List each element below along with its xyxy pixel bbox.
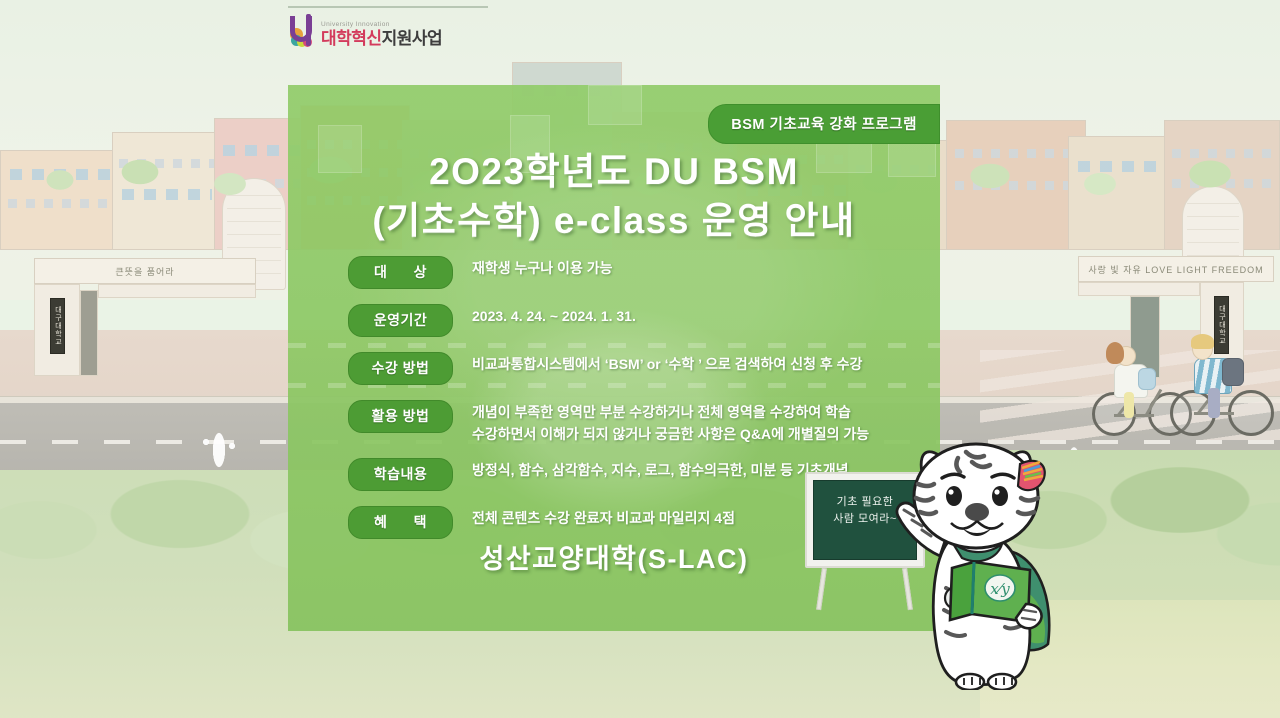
row-label-curriculum: 학습내용 [348, 458, 453, 491]
left-gate-beam: 큰뜻을 품어라 [34, 258, 256, 284]
nose [965, 503, 989, 521]
white-tiger-mascot: x⁄y [888, 438, 1078, 690]
table-row: 운영기간 2023. 4. 24. ~ 2024. 1. 31. [348, 304, 930, 337]
right-gate-beam: 사랑 빛 자유 LOVE LIGHT FREEDOM [1078, 256, 1274, 282]
row-value-period: 2023. 4. 24. ~ 2024. 1. 31. [472, 304, 930, 328]
logo-u-mark-icon [290, 14, 315, 47]
page-title: 2O23학년도 DU BSM (기초수학) e-class 운영 안내 [288, 147, 940, 245]
left-gate-plaque: 대구대학교 [50, 298, 65, 354]
table-row: 수강 방법 비교과통합시스템에서 ‘BSM’ or ‘수학 ’ 으로 검색하여 … [348, 352, 930, 385]
eye [946, 486, 962, 506]
row-value-enrollment-method: 비교과통합시스템에서 ‘BSM’ or ‘수학 ’ 으로 검색하여 신청 후 수… [472, 352, 930, 376]
cyclist [1168, 326, 1280, 442]
row-value-usage-method: 개념이 부족한 영역만 부분 수강하거나 전체 영역을 수강하여 학습 수강하면… [472, 400, 930, 445]
logo-korean-dark: 지원사업 [382, 29, 443, 48]
right-gate-sign-text: 사랑 빛 자유 LOVE LIGHT FREEDOM [1088, 263, 1263, 276]
row-label-usage-method: 활용 방법 [348, 400, 453, 433]
ghost-building [588, 85, 642, 125]
row-label-target: 대 상 [348, 256, 453, 289]
logo-korean-red: 대학혁신 [321, 29, 382, 48]
row-label-period: 운영기간 [348, 304, 453, 337]
poster-canvas: 큰뜻을 품어라 대구대학교 사랑 빛 자유 LOVE LIGHT FREEDOM… [0, 0, 1280, 718]
row-value-target: 재학생 누구나 이용 가능 [472, 256, 930, 280]
university-innovation-logo: University Innovation 대학혁신지원사업 [290, 14, 442, 47]
left-gate-sign-text: 큰뜻을 품어라 [115, 265, 174, 278]
book-symbol-text: x⁄y [990, 580, 1010, 598]
row-label-benefit: 혜 택 [348, 506, 453, 539]
header-divider [288, 6, 488, 8]
logo-english-text: University Innovation [321, 22, 442, 29]
row-label-enrollment-method: 수강 방법 [348, 352, 453, 385]
table-row: 대 상 재학생 누구나 이용 가능 [348, 256, 930, 289]
eye [992, 486, 1008, 506]
program-badge: BSM 기초교육 강화 프로그램 [708, 104, 940, 144]
title-line-1: 2O23학년도 DU BSM [288, 147, 940, 196]
table-row: 활용 방법 개념이 부족한 영역만 부분 수강하거나 전체 영역을 수강하여 학… [348, 400, 930, 445]
title-line-2: (기초수학) e-class 운영 안내 [288, 196, 940, 245]
